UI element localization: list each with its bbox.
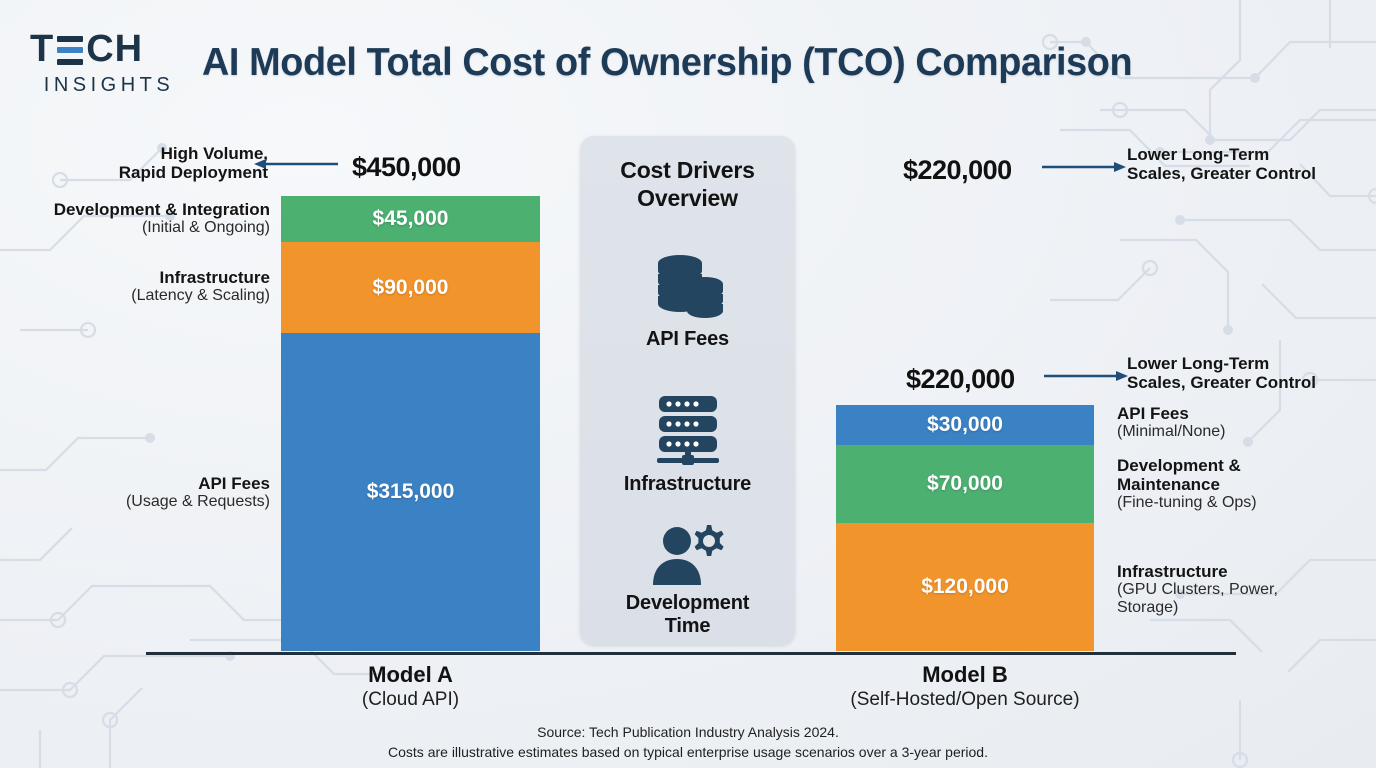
label-sub: (Usage & Requests) bbox=[10, 493, 270, 511]
model-b-callout-line1: Lower Long-Term bbox=[1127, 354, 1316, 373]
footer-source-note: Source: Tech Publication Industry Analys… bbox=[0, 722, 1376, 763]
model-b-segment-api-fees[interactable]: $30,000 bbox=[836, 405, 1094, 445]
logo-wordmark-insights: INSIGHTS bbox=[30, 74, 188, 97]
logo-letter-t: T bbox=[30, 30, 54, 68]
category-name: Model B bbox=[836, 662, 1094, 688]
model-b-segment-label-infrastructure: Infrastructure (GPU Clusters, Power, Sto… bbox=[1117, 562, 1372, 618]
label-bold: Development & Integration bbox=[10, 200, 270, 219]
cost-driver-label-line2: Time bbox=[665, 615, 711, 637]
label-sub-line2: Storage) bbox=[1117, 599, 1372, 617]
model-a-segment-infrastructure[interactable]: $90,000 bbox=[281, 242, 540, 333]
category-name: Model A bbox=[281, 662, 540, 688]
label-bold-line2: Maintenance bbox=[1117, 475, 1372, 494]
model-b-segment-label-development: Development & Maintenance (Fine-tuning &… bbox=[1117, 456, 1372, 512]
model-b-segment-development[interactable]: $70,000 bbox=[836, 445, 1094, 523]
label-bold: Infrastructure bbox=[1117, 562, 1372, 581]
cost-drivers-panel: Cost Drivers Overview bbox=[580, 136, 795, 645]
model-b-callout-line2: Scales, Greater Control bbox=[1127, 373, 1316, 392]
model-a-segment-label-api-fees: API Fees (Usage & Requests) bbox=[10, 474, 270, 511]
label-sub-line1: (GPU Clusters, Power, bbox=[1117, 581, 1372, 599]
model-b-total-value-top: $220,000 bbox=[903, 155, 1012, 186]
logo-wordmark-tech: T CH bbox=[30, 28, 190, 70]
category-subtitle: (Cloud API) bbox=[281, 689, 540, 712]
segment-value: $315,000 bbox=[367, 480, 455, 504]
coins-icon bbox=[650, 251, 726, 321]
model-a-segment-label-development: Development & Integration (Initial & Ong… bbox=[10, 200, 270, 237]
model-a-callout-line2: Rapid Deployment bbox=[28, 163, 268, 182]
label-sub: (Minimal/None) bbox=[1117, 423, 1372, 441]
model-a-callout-text: High Volume, Rapid Deployment bbox=[28, 144, 268, 182]
model-b-segment-infrastructure[interactable]: $120,000 bbox=[836, 523, 1094, 651]
model-b-callout-arrow-icon bbox=[1042, 364, 1130, 388]
label-bold: API Fees bbox=[1117, 404, 1372, 423]
infographic-canvas: T CH INSIGHTS AI Model Total Cost of Own… bbox=[0, 0, 1376, 768]
model-b-segment-label-api-fees: API Fees (Minimal/None) bbox=[1117, 404, 1372, 441]
model-b-category-label: Model B (Self-Hosted/Open Source) bbox=[836, 662, 1094, 712]
logo-letter-e-icon bbox=[57, 36, 83, 65]
model-b-callout-arrow-top-icon bbox=[1040, 155, 1128, 179]
label-bold: API Fees bbox=[10, 474, 270, 493]
page-title: AI Model Total Cost of Ownership (TCO) C… bbox=[202, 41, 1132, 85]
model-a-category-label: Model A (Cloud API) bbox=[281, 662, 540, 712]
developer-gear-icon bbox=[647, 521, 729, 585]
panel-title-line1: Cost Drivers bbox=[620, 157, 754, 183]
cost-driver-label: API Fees bbox=[580, 328, 795, 351]
logo-letters-ch: CH bbox=[86, 30, 143, 68]
model-b-callout-top-line1: Lower Long-Term bbox=[1127, 145, 1316, 164]
model-b-callout-top-line2: Scales, Greater Control bbox=[1127, 164, 1316, 183]
cost-driver-infrastructure[interactable]: Infrastructure bbox=[580, 394, 795, 496]
model-a-segment-api-fees[interactable]: $315,000 bbox=[281, 333, 540, 651]
segment-value: $30,000 bbox=[927, 413, 1003, 437]
model-a-total-value: $450,000 bbox=[352, 152, 461, 183]
footer-line2: Costs are illustrative estimates based o… bbox=[0, 742, 1376, 762]
label-sub: (Initial & Ongoing) bbox=[10, 219, 270, 237]
chart-baseline-axis bbox=[146, 652, 1236, 655]
server-rack-icon bbox=[645, 394, 731, 466]
model-b-callout-text: Lower Long-Term Scales, Greater Control bbox=[1127, 354, 1316, 392]
cost-driver-label: Development Time bbox=[580, 592, 795, 638]
model-a-callout-line1: High Volume, bbox=[28, 144, 268, 163]
panel-title-line2: Overview bbox=[637, 185, 738, 211]
cost-driver-label-line1: Development bbox=[626, 592, 749, 614]
segment-value: $45,000 bbox=[373, 207, 449, 231]
category-subtitle: (Self-Hosted/Open Source) bbox=[836, 689, 1094, 712]
model-b-total-value: $220,000 bbox=[906, 364, 1015, 395]
footer-line1: Source: Tech Publication Industry Analys… bbox=[0, 722, 1376, 742]
model-b-callout-text-top: Lower Long-Term Scales, Greater Control bbox=[1127, 145, 1316, 183]
label-bold-line1: Development & bbox=[1117, 456, 1372, 475]
model-a-callout-arrow-icon bbox=[252, 152, 340, 176]
segment-value: $120,000 bbox=[921, 575, 1009, 599]
label-sub: (Latency & Scaling) bbox=[10, 287, 270, 305]
segment-value: $90,000 bbox=[373, 276, 449, 300]
model-a-segment-label-infrastructure: Infrastructure (Latency & Scaling) bbox=[10, 268, 270, 305]
cost-driver-development-time[interactable]: Development Time bbox=[580, 521, 795, 638]
model-a-segment-development[interactable]: $45,000 bbox=[281, 196, 540, 242]
cost-driver-api-fees[interactable]: API Fees bbox=[580, 251, 795, 351]
cost-drivers-panel-title: Cost Drivers Overview bbox=[580, 156, 795, 213]
segment-value: $70,000 bbox=[927, 472, 1003, 496]
label-bold: Infrastructure bbox=[10, 268, 270, 287]
model-b-stacked-bar[interactable]: $30,000 $70,000 $120,000 bbox=[836, 405, 1094, 651]
model-a-stacked-bar[interactable]: $45,000 $90,000 $315,000 bbox=[281, 196, 540, 651]
cost-driver-label: Infrastructure bbox=[580, 473, 795, 496]
brand-logo: T CH INSIGHTS bbox=[30, 28, 190, 100]
label-sub: (Fine-tuning & Ops) bbox=[1117, 494, 1372, 512]
